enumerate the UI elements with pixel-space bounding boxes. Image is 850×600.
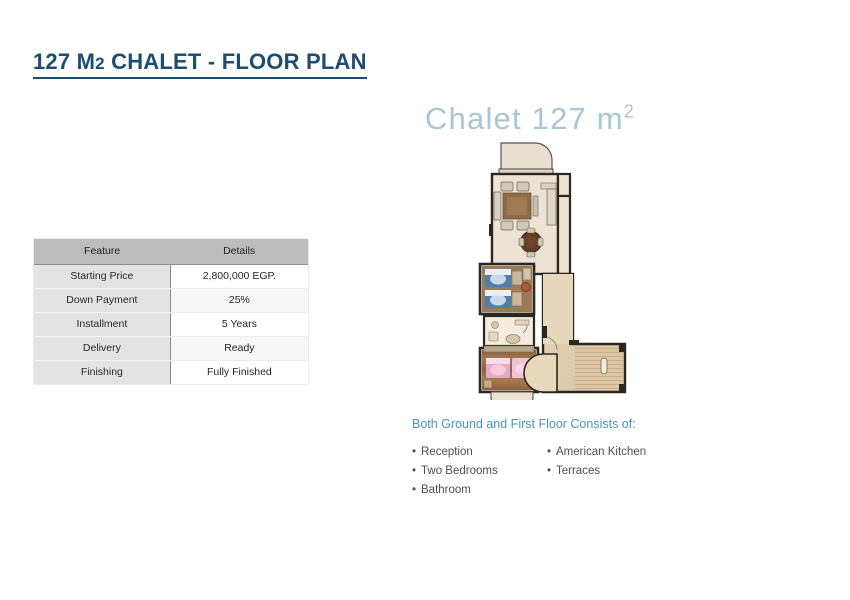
table-row: Finishing Fully Finished	[34, 361, 308, 385]
page-title-prefix: 127 M	[33, 49, 95, 74]
cell-feature: Finishing	[34, 361, 170, 385]
bullet-icon: •	[547, 462, 556, 481]
table-row: Starting Price 2,800,000 EGP.	[34, 265, 308, 289]
list-item: •Two Bedrooms	[412, 462, 547, 481]
page-title-suffix: CHALET - FLOOR PLAN	[105, 49, 367, 74]
cell-details: 2,800,000 EGP.	[170, 265, 308, 289]
spec-table-head: Feature Details	[34, 239, 308, 265]
page-title-exponent: 2	[95, 54, 105, 73]
cell-details: 25%	[170, 289, 308, 313]
page-title: 127 M2 CHALET - FLOOR PLAN	[33, 50, 367, 79]
plan-heading: Chalet 127 m2	[425, 101, 634, 137]
list-item: •Reception	[412, 443, 547, 462]
spec-table-body: Starting Price 2,800,000 EGP. Down Payme…	[34, 265, 308, 385]
plan-heading-exponent: 2	[624, 102, 634, 122]
list-item-label: Terraces	[556, 465, 600, 477]
cell-feature: Starting Price	[34, 265, 170, 289]
list-item: •American Kitchen	[547, 443, 682, 462]
cell-details: Fully Finished	[170, 361, 308, 385]
bullet-icon: •	[412, 443, 421, 462]
floor-plan-image	[455, 140, 645, 400]
table-row: Delivery Ready	[34, 337, 308, 361]
features-columns: •Reception •Two Bedrooms •Bathroom •Amer…	[412, 443, 682, 500]
list-item-label: Bathroom	[421, 484, 471, 496]
list-item: •Terraces	[547, 462, 682, 481]
table-row: Down Payment 25%	[34, 289, 308, 313]
list-item: •Bathroom	[412, 481, 547, 500]
cell-feature: Delivery	[34, 337, 170, 361]
table-row: Installment 5 Years	[34, 313, 308, 337]
column-header-feature: Feature	[34, 239, 170, 265]
cell-feature: Down Payment	[34, 289, 170, 313]
features-heading: Both Ground and First Floor Consists of:	[412, 417, 636, 431]
plan-heading-text: Chalet 127 m	[425, 101, 624, 136]
features-column-right: •American Kitchen •Terraces	[547, 443, 682, 500]
bullet-icon: •	[412, 481, 421, 500]
cell-details: Ready	[170, 337, 308, 361]
features-column-left: •Reception •Two Bedrooms •Bathroom	[412, 443, 547, 500]
spec-table: Feature Details Starting Price 2,800,000…	[34, 239, 308, 384]
cell-details: 5 Years	[170, 313, 308, 337]
list-item-label: American Kitchen	[556, 446, 646, 458]
list-item-label: Reception	[421, 446, 473, 458]
cell-feature: Installment	[34, 313, 170, 337]
column-header-details: Details	[170, 239, 308, 265]
bullet-icon: •	[412, 462, 421, 481]
table-header-row: Feature Details	[34, 239, 308, 265]
bullet-icon: •	[547, 443, 556, 462]
list-item-label: Two Bedrooms	[421, 465, 498, 477]
